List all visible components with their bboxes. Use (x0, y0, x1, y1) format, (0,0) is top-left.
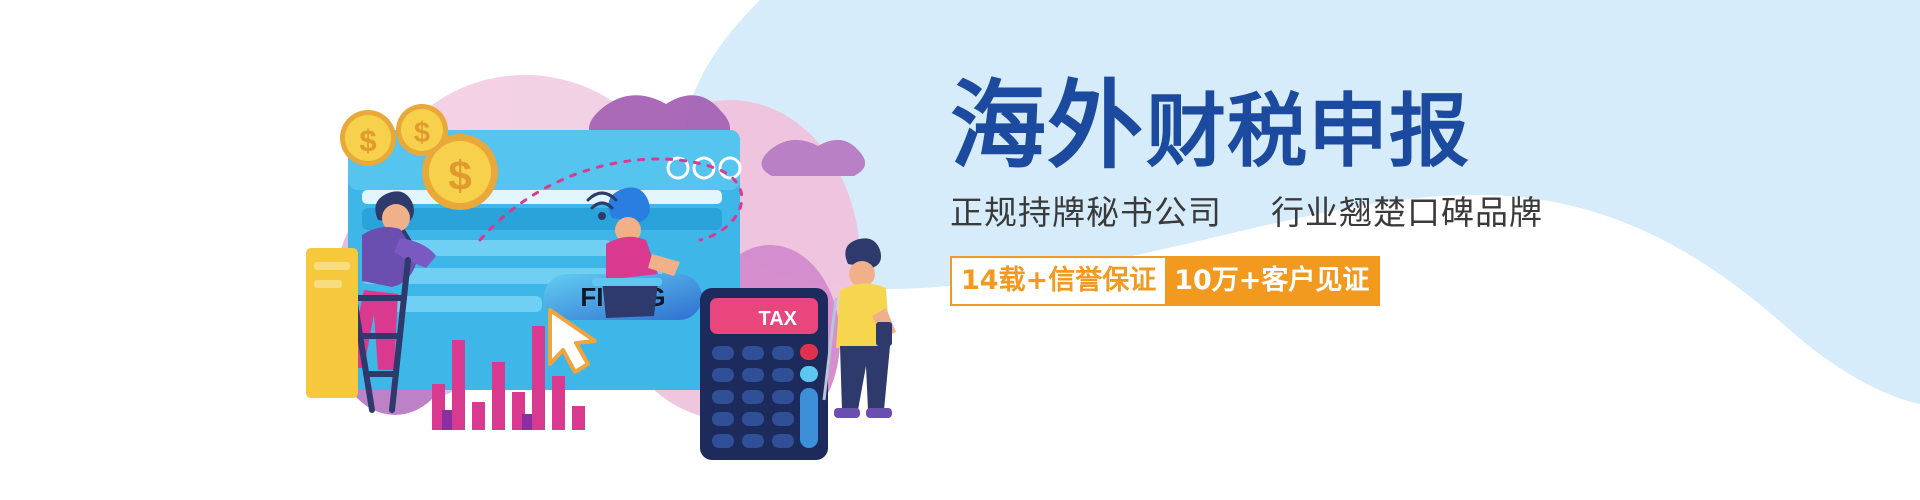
svg-text:$: $ (414, 117, 430, 149)
banner-copy-block: 海外 财税申报 正规持牌秘书公司 行业翘楚口碑品牌 14载+信誉保证 10万+客… (950, 78, 1570, 306)
svg-text:$: $ (359, 123, 376, 158)
gold-coin-medium: $ (340, 110, 396, 166)
headline-part-b: 财税申报 (1146, 92, 1470, 172)
headline-part-a: 海外 (950, 78, 1144, 174)
subtitle-left: 正规持牌秘书公司 (950, 193, 1222, 232)
page-title: 海外 财税申报 (950, 78, 1570, 174)
svg-text:$: $ (448, 152, 471, 199)
subtitle-right: 行业翘楚口碑品牌 (1271, 193, 1543, 232)
badge-group: 14载+信誉保证 10万+客户见证 (950, 256, 1290, 306)
promo-banner: $ $ $ (0, 0, 1920, 500)
gold-coin-small: $ (396, 104, 448, 156)
banner-subtitle: 正规持牌秘书公司 行业翘楚口碑品牌 (950, 186, 1570, 234)
calculator-display-label: TAX (758, 308, 797, 330)
hero-illustration: $ $ $ (300, 40, 940, 470)
status-badge-experience: 14载+信誉保证 (950, 256, 1165, 306)
status-badge-customers: 10万+客户见证 (1165, 256, 1380, 306)
